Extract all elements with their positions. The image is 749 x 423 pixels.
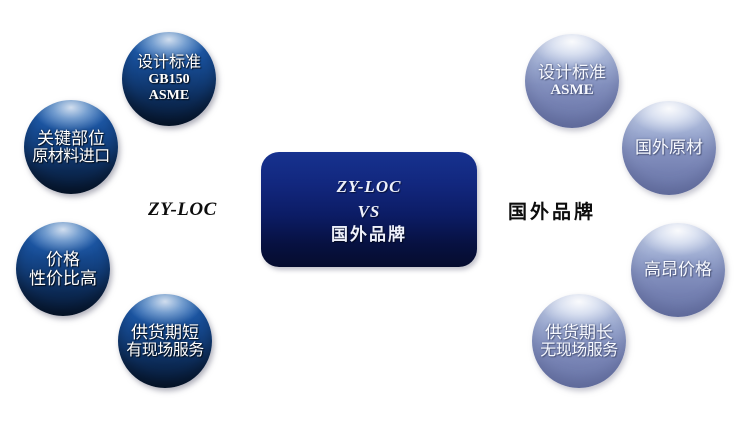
bubble-content: 设计标准 GB150 ASME: [122, 54, 216, 103]
center-title-foreign-brand: 国外品牌: [331, 227, 407, 245]
bubble-line-1: 设计标准: [137, 54, 201, 72]
comparison-diagram-canvas: 设计标准 GB150 ASME 关键部位 原材料进口 价格 性价比高 供货期短 …: [0, 0, 749, 423]
bubble-foreign-raw-material[interactable]: 国外原材: [622, 101, 716, 195]
bubble-line-1: 关键部位: [37, 129, 105, 148]
center-title-vs: VS: [358, 203, 381, 221]
bubble-line-1: 国外原材: [635, 138, 703, 157]
bubble-content: 国外原材: [622, 138, 716, 157]
center-title-zyloc: ZY-LOC: [337, 178, 402, 196]
caption-foreign-brand: 国外品牌: [508, 197, 596, 224]
bubble-content: 设计标准 ASME: [525, 63, 619, 99]
bubble-foreign-price[interactable]: 高昂价格: [631, 223, 725, 317]
bubble-line-2: 性价比高: [29, 269, 97, 288]
bubble-content: 价格 性价比高: [16, 250, 110, 288]
bubble-line-2: 无现场服务: [540, 342, 618, 360]
bubble-zyloc-key-materials[interactable]: 关键部位 原材料进口: [24, 100, 118, 194]
bubble-zyloc-delivery[interactable]: 供货期短 有现场服务: [118, 294, 212, 388]
bubble-line-2: 原材料进口: [32, 148, 110, 166]
bubble-line-2: ASME: [550, 82, 593, 99]
bubble-foreign-design-standard[interactable]: 设计标准 ASME: [525, 34, 619, 128]
bubble-content: 供货期长 无现场服务: [532, 323, 626, 360]
bubble-foreign-delivery[interactable]: 供货期长 无现场服务: [532, 294, 626, 388]
bubble-zyloc-design-standard[interactable]: 设计标准 GB150 ASME: [122, 32, 216, 126]
bubble-line-2: 有现场服务: [126, 342, 204, 360]
bubble-line-1: 设计标准: [538, 63, 606, 82]
bubble-line-1: 供货期长: [545, 323, 613, 342]
bubble-content: 关键部位 原材料进口: [24, 129, 118, 166]
bubble-line-1: 供货期短: [131, 323, 199, 342]
bubble-line-1: 价格: [46, 250, 80, 269]
bubble-content: 供货期短 有现场服务: [118, 323, 212, 360]
bubble-content: 高昂价格: [631, 260, 725, 279]
bubble-line-3: ASME: [149, 88, 189, 104]
bubble-line-1: 高昂价格: [644, 260, 712, 279]
center-comparison-panel: ZY-LOC VS 国外品牌: [261, 152, 477, 267]
bubble-line-2: GB150: [148, 72, 189, 88]
bubble-zyloc-price[interactable]: 价格 性价比高: [16, 222, 110, 316]
caption-zyloc: ZY-LOC: [148, 199, 217, 221]
